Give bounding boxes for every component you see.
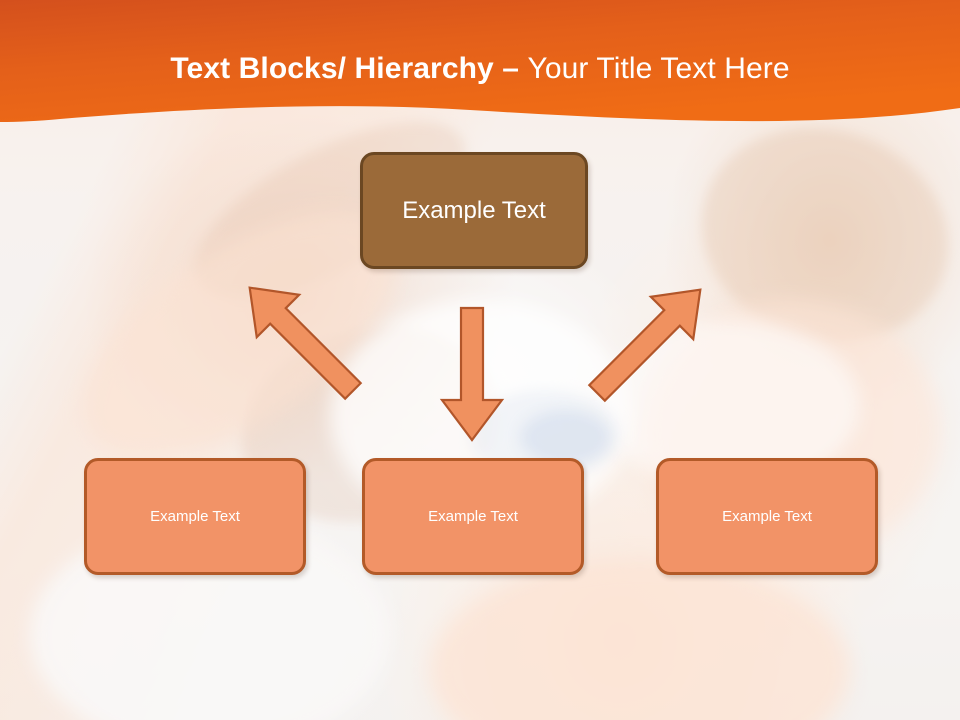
page-title-light: Your Title Text Here [527,52,789,85]
page-title: Text Blocks/ Hierarchy – Your Title Text… [0,50,960,88]
page-title-bold: Text Blocks/ Hierarchy [170,52,502,85]
hierarchy-child-label-2: Example Text [428,508,518,525]
header-band: Text Blocks/ Hierarchy – Your Title Text… [0,0,960,145]
hierarchy-root-label: Example Text [402,197,546,225]
hierarchy-child-box-1[interactable]: Example Text [84,458,306,575]
hierarchy-child-box-2[interactable]: Example Text [362,458,584,575]
hierarchy-child-label-1: Example Text [150,508,240,525]
hierarchy-root-box[interactable]: Example Text [360,152,588,269]
hierarchy-child-box-3[interactable]: Example Text [656,458,878,575]
page-title-separator: – [502,52,527,85]
hierarchy-child-label-3: Example Text [722,508,812,525]
slide-canvas: Text Blocks/ Hierarchy – Your Title Text… [0,0,960,720]
